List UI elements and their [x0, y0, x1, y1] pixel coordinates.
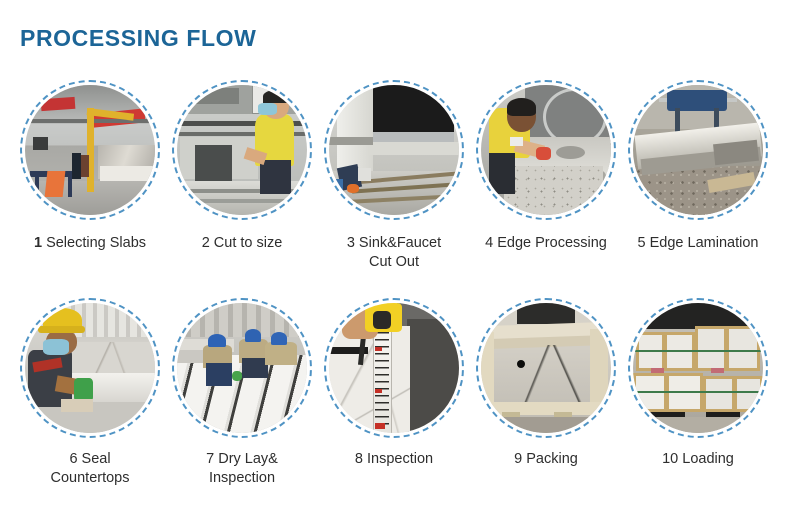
flow-row-2: 6 Seal Countertops 7 Dry Lay& Inspection [0, 295, 790, 505]
photo-inspection [329, 303, 459, 433]
step-caption-10: 10 Loading [662, 450, 734, 469]
step-caption-3: 3 Sink&Faucet Cut Out [347, 234, 441, 271]
photo-dry-lay-inspection [177, 303, 307, 433]
step-3-sink-faucet-cut-out[interactable]: 3 Sink&Faucet Cut Out [318, 80, 470, 295]
step-photo-circle[interactable] [172, 80, 312, 220]
step-photo-circle[interactable] [476, 80, 616, 220]
step-number: 1 [34, 235, 42, 251]
step-caption-1: 1 Selecting Slabs [34, 234, 146, 253]
photo-packing [481, 303, 611, 433]
step-photo-circle[interactable] [172, 298, 312, 438]
step-7-dry-lay-inspection[interactable]: 7 Dry Lay& Inspection [166, 295, 318, 505]
step-2-cut-to-size[interactable]: 2 Cut to size [166, 80, 318, 295]
step-caption-5: 5 Edge Lamination [638, 234, 759, 253]
step-photo-circle[interactable] [20, 298, 160, 438]
photo-sink-faucet-cut-out [329, 85, 459, 215]
step-photo-circle[interactable] [628, 80, 768, 220]
flow-row-1: 1 Selecting Slabs 2 Cut to size [0, 80, 790, 295]
step-caption-8: 8 Inspection [355, 450, 433, 469]
step-4-edge-processing[interactable]: 4 Edge Processing [470, 80, 622, 295]
step-8-inspection[interactable]: 8 Inspection [318, 295, 470, 505]
step-caption-2: 2 Cut to size [202, 234, 283, 253]
step-6-seal-countertops[interactable]: 6 Seal Countertops [14, 295, 166, 505]
step-caption-9: 9 Packing [514, 450, 578, 469]
step-photo-circle[interactable] [324, 298, 464, 438]
step-caption-6: 6 Seal Countertops [51, 450, 130, 487]
step-caption-4: 4 Edge Processing [485, 234, 607, 253]
step-5-edge-lamination[interactable]: 5 Edge Lamination [622, 80, 774, 295]
photo-cut-to-size [177, 85, 307, 215]
photo-selecting-slabs [25, 85, 155, 215]
step-10-loading[interactable]: 10 Loading [622, 295, 774, 505]
photo-edge-processing [481, 85, 611, 215]
step-photo-circle[interactable] [324, 80, 464, 220]
step-caption-7: 7 Dry Lay& Inspection [206, 450, 278, 487]
step-1-selecting-slabs[interactable]: 1 Selecting Slabs [14, 80, 166, 295]
photo-seal-countertops [25, 303, 155, 433]
step-photo-circle[interactable] [20, 80, 160, 220]
step-photo-circle[interactable] [628, 298, 768, 438]
processing-flow-grid: 1 Selecting Slabs 2 Cut to size [0, 80, 790, 505]
step-9-packing[interactable]: 9 Packing [470, 295, 622, 505]
photo-loading [633, 303, 763, 433]
photo-edge-lamination [633, 85, 763, 215]
page-title: PROCESSING FLOW [20, 27, 256, 50]
step-photo-circle[interactable] [476, 298, 616, 438]
